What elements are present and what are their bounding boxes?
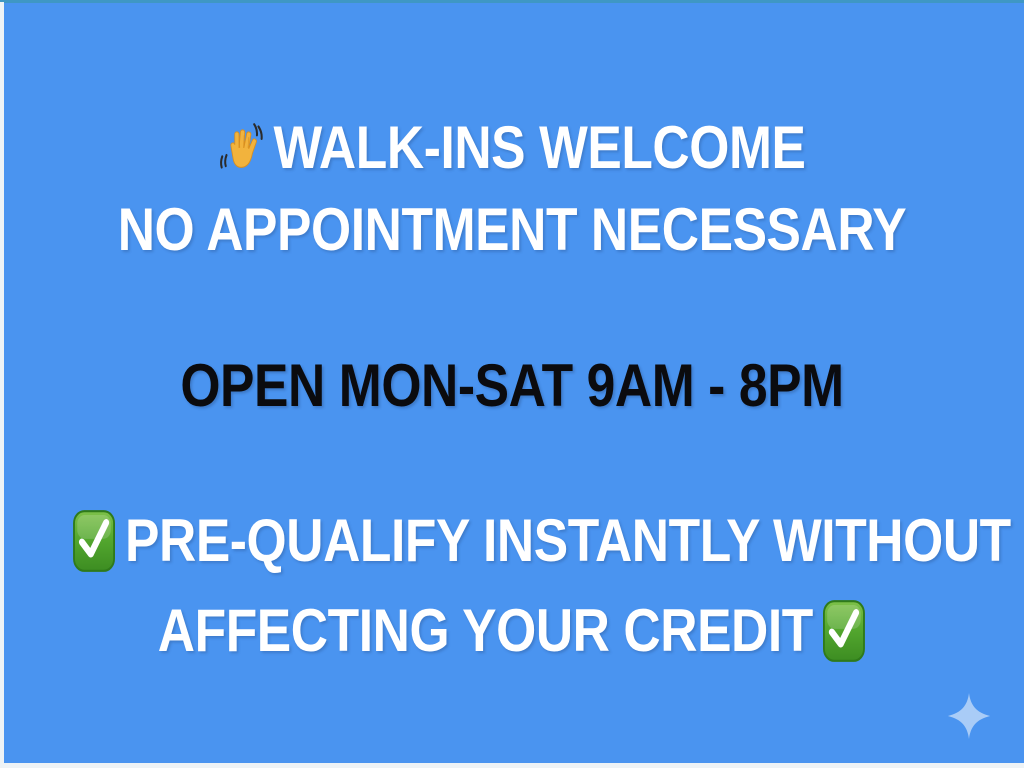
left-edge-strip <box>0 2 4 768</box>
white-check-mark-icon <box>72 508 117 574</box>
waving-hand-icon <box>218 118 268 176</box>
headline-no-appointment: NO APPOINTMENT NECESSARY <box>72 200 953 260</box>
store-hours-text: OPEN MON-SAT 9AM - 8PM <box>180 352 843 419</box>
top-edge-hairline <box>0 0 1024 3</box>
headline-walk-ins-welcome: WALK-INS WELCOME <box>72 118 953 178</box>
white-check-mark-icon <box>821 598 866 664</box>
prequalify-line-two: AFFECTING YOUR CREDIT <box>72 598 953 664</box>
sign-slide: WALK-INS WELCOME NO APPOINTMENT NECESSAR… <box>0 0 1024 768</box>
headline-no-appointment-text: NO APPOINTMENT NECESSARY <box>118 196 907 263</box>
prequalify-line-two-text: AFFECTING YOUR CREDIT <box>158 597 813 664</box>
headline-welcome-text: WALK-INS WELCOME <box>274 114 806 181</box>
prequalify-line-one-text: PRE-QUALIFY INSTANTLY WITHOUT <box>125 507 1011 574</box>
prequalify-line-one: PRE-QUALIFY INSTANTLY WITHOUT <box>72 508 953 574</box>
store-hours-line: OPEN MON-SAT 9AM - 8PM <box>72 356 953 416</box>
sparkle-star-icon <box>946 692 992 740</box>
bottom-edge-strip <box>0 763 1024 768</box>
